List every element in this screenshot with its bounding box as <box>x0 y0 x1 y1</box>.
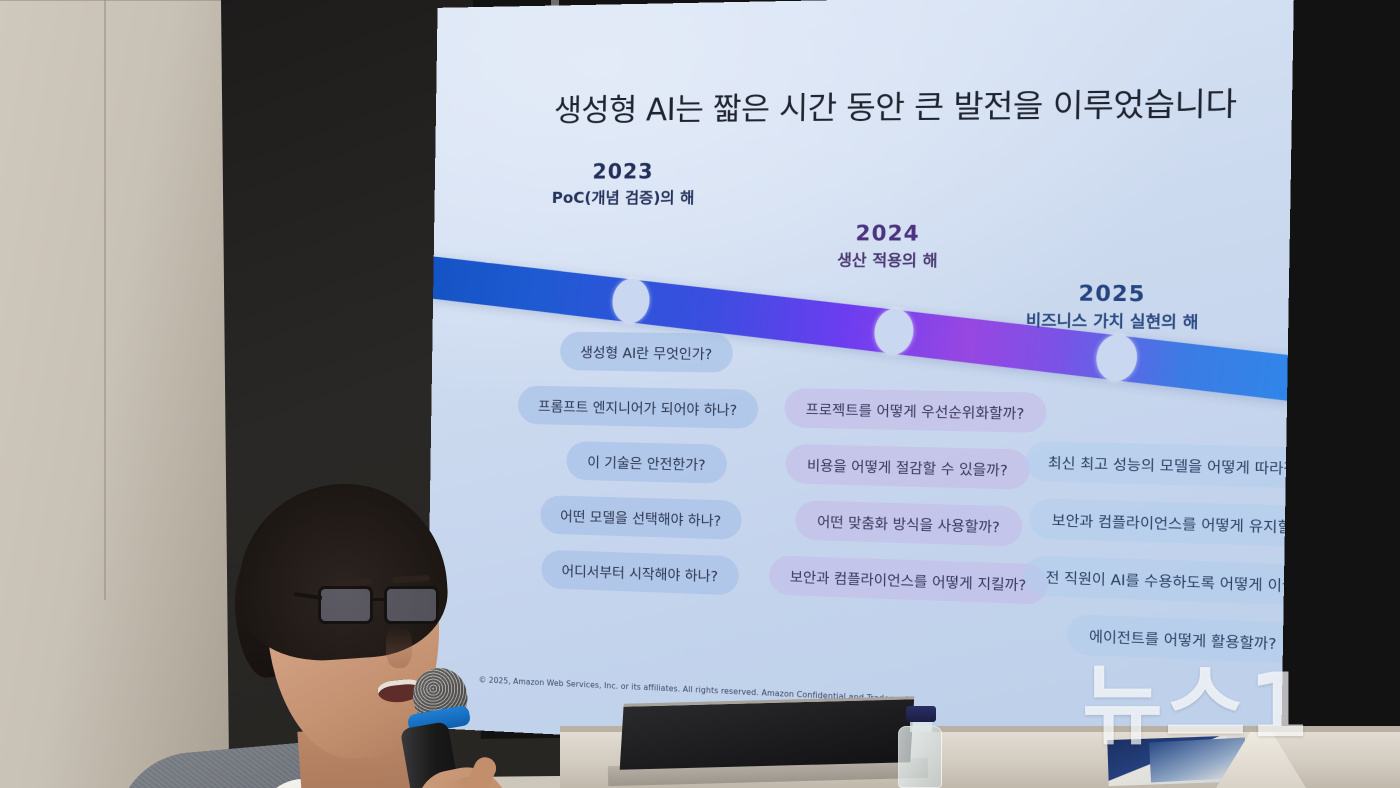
question-bubble: 어떤 맞춤화 방식을 사용할까? <box>796 500 1023 547</box>
timeline-label-2024: 2024 생산 적용의 해 <box>754 220 1024 271</box>
glasses-bridge <box>372 598 386 601</box>
question-bubble: 어디서부터 시작해야 하나? <box>541 550 739 596</box>
timeline-subtitle-2023: PoC(개념 검증)의 해 <box>496 186 752 208</box>
timeline-dot-2024 <box>872 307 916 357</box>
question-column-2023: 생성형 AI란 무엇인가? 프롬프트 엔지니어가 되어야 하나? 이 기술은 안… <box>502 331 783 597</box>
question-bubble: 보안과 컴플라이언스를 어떻게 지킬까? <box>768 555 1048 605</box>
presentation-slide: 생성형 AI는 짧은 시간 동안 큰 발전을 이루었습니다 2023 PoC(개… <box>426 0 1293 772</box>
question-column-2025: 최신 최고 성능의 모델을 어떻게 따라잡지? 보안과 컴플라이언스를 어떻게 … <box>1023 441 1294 666</box>
laptop-screen <box>620 696 915 770</box>
hair <box>232 477 452 666</box>
timeline-label-2025: 2025 비즈니스 가치 실현의 해 <box>973 280 1255 334</box>
question-bubble: 어떤 모델을 선택해야 하나? <box>540 495 743 540</box>
question-column-2024: 프로젝트를 어떻게 우선순위화할까? 비용을 어떻게 절감할 수 있을까? 어떤… <box>752 388 1069 606</box>
slide-title: 생성형 AI는 짧은 시간 동안 큰 발전을 이루었습니다 <box>525 83 1269 134</box>
question-bubble: 보안과 컴플라이언스를 어떻게 유지할까? <box>1029 498 1294 548</box>
water-bottle <box>898 726 942 788</box>
timeline-subtitle-2025: 비즈니스 가치 실현의 해 <box>973 308 1254 333</box>
eyeglasses-icon <box>318 586 446 628</box>
conference-room-photo: 생성형 AI는 짧은 시간 동안 큰 발전을 이루었습니다 2023 PoC(개… <box>0 0 1400 788</box>
lens-right <box>384 586 439 624</box>
timeline-subtitle-2024: 생산 적용의 해 <box>754 248 1024 271</box>
question-bubble: 생성형 AI란 무엇인가? <box>560 332 734 373</box>
timeline-label-2023: 2023 PoC(개념 검증)의 해 <box>496 159 753 209</box>
nose <box>386 626 412 668</box>
water-bottle-cap <box>906 706 936 722</box>
timeline-year-2024: 2024 <box>754 220 1024 246</box>
timeline-dot-2023 <box>610 276 652 325</box>
presenter <box>0 228 460 788</box>
lens-left <box>318 586 373 624</box>
question-bubble: 비용을 어떻게 절감할 수 있을까? <box>786 444 1031 490</box>
question-bubble: 프로젝트를 어떻게 우선순위화할까? <box>784 388 1047 433</box>
timeline-year-2023: 2023 <box>496 159 752 184</box>
question-bubble: 프롬프트 엔지니어가 되어야 하나? <box>518 386 759 429</box>
question-bubble: 전 직원이 AI를 수용하도록 어떻게 이끌까? <box>1023 555 1294 607</box>
question-bubble: 최신 최고 성능의 모델을 어떻게 따라잡지? <box>1025 441 1293 489</box>
question-bubble: 에이전트를 어떻게 활용할까? <box>1066 614 1293 664</box>
timeline-dot-2025 <box>1094 332 1140 383</box>
timeline-year-2025: 2025 <box>973 280 1254 308</box>
question-bubble: 이 기술은 안전한가? <box>567 441 727 484</box>
